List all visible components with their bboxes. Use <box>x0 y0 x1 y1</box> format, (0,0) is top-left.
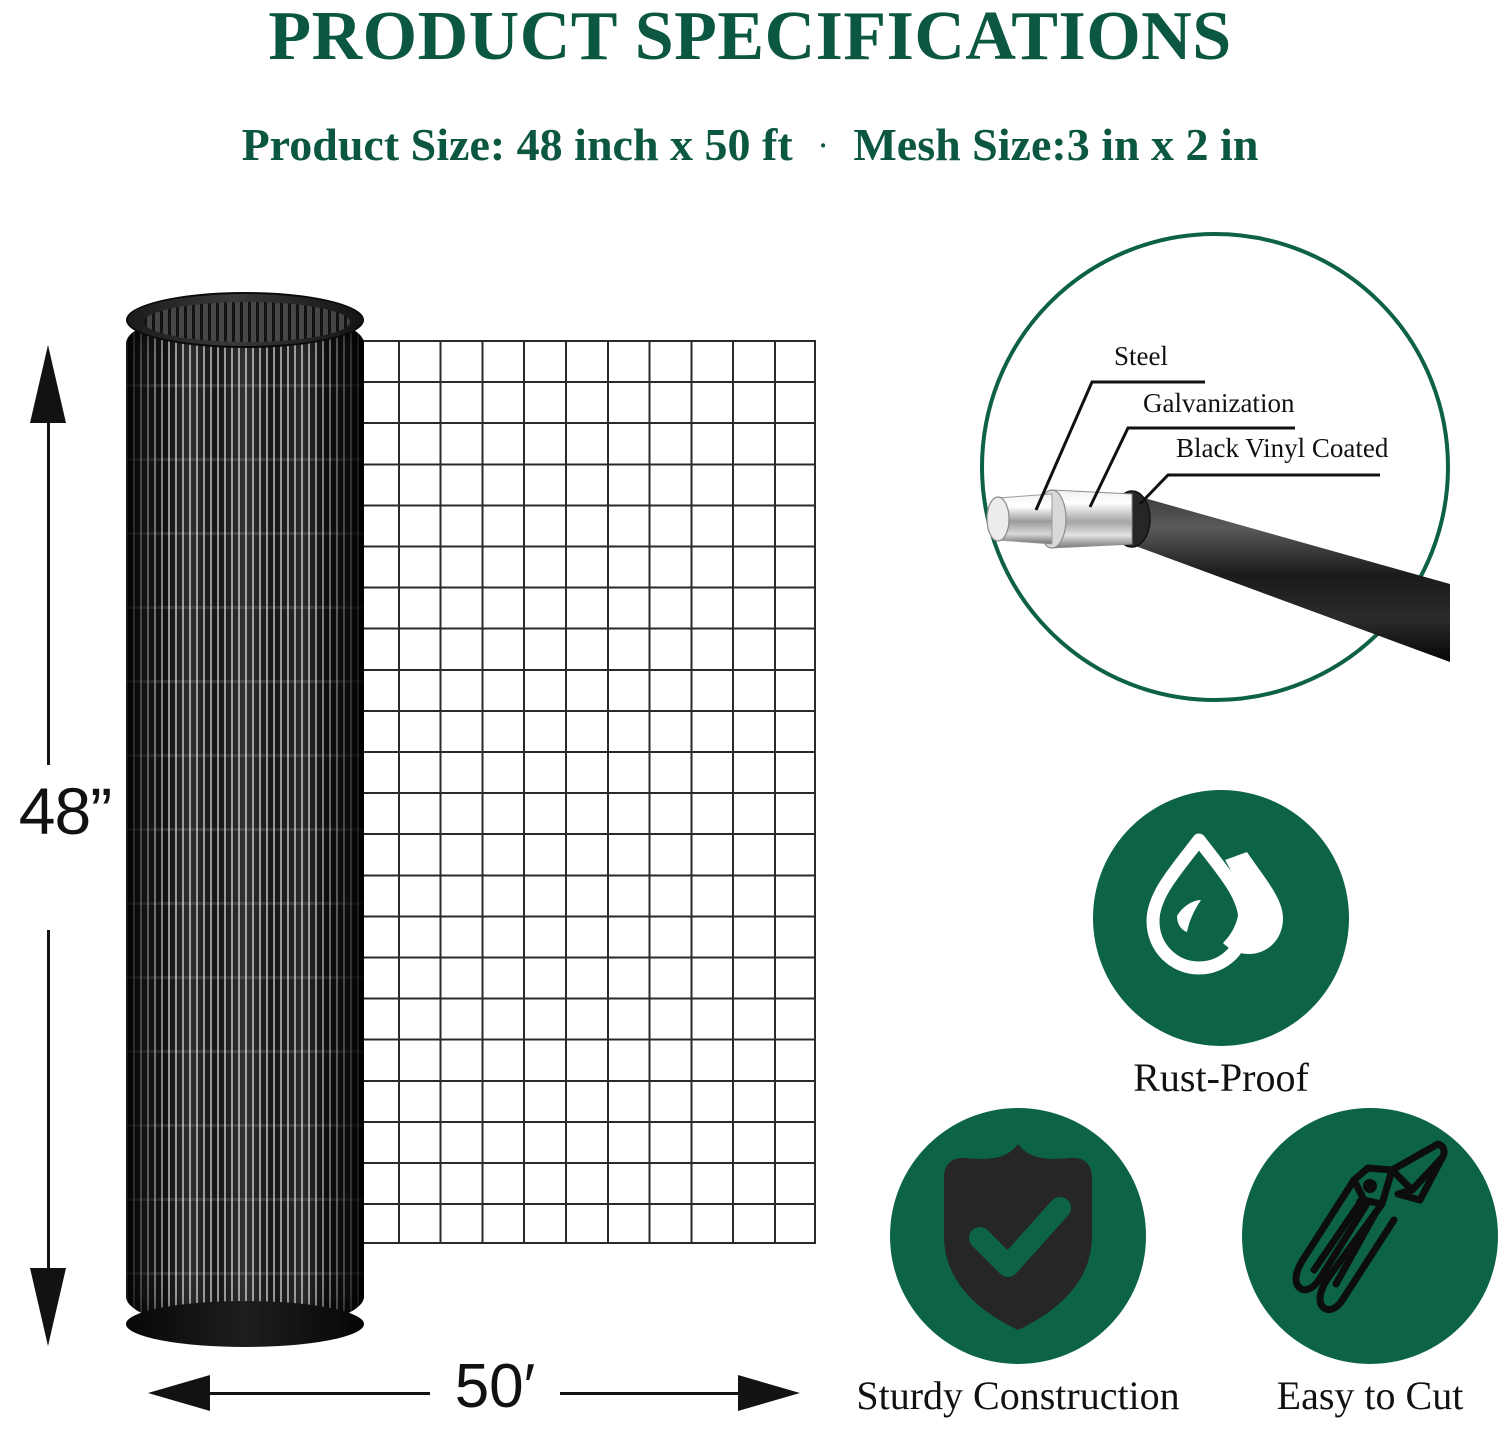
spec-separator-dot: · <box>819 133 828 159</box>
feature-label-easy-to-cut: Easy to Cut <box>1212 1376 1500 1416</box>
roll-top-coil-detail <box>144 302 350 342</box>
product-size-text: Product Size: 48 inch x 50 ft <box>242 119 793 170</box>
feature-easy-to-cut: Easy to Cut <box>1242 1108 1498 1408</box>
feature-label-rust-proof: Rust-Proof <box>1063 1058 1379 1098</box>
steel-layer <box>987 494 1052 544</box>
height-arrow-head-up <box>30 345 66 423</box>
callout-label-black-vinyl-coated: Black Vinyl Coated <box>1176 435 1388 462</box>
pliers-icon <box>1242 1108 1498 1364</box>
width-dimension-label: 50′ <box>430 1356 560 1418</box>
shield-check-icon <box>890 1108 1146 1364</box>
width-arrow-line-right <box>560 1392 740 1395</box>
roll-top-ellipse <box>126 292 364 348</box>
roll-bottom-ellipse <box>126 1301 364 1347</box>
width-arrow-line-left <box>205 1392 430 1395</box>
wire-mesh-panel <box>356 340 816 1244</box>
wire-mesh-roll <box>126 292 364 1347</box>
feature-sturdy-construction: Sturdy Construction <box>890 1108 1146 1408</box>
height-dimension-label: 48” <box>0 778 130 844</box>
feature-rust-proof: Rust-Proof <box>1093 790 1349 1090</box>
width-arrow-head-right <box>738 1375 800 1411</box>
feature-label-sturdy-construction: Sturdy Construction <box>830 1376 1206 1416</box>
height-arrow-head-down <box>30 1268 66 1346</box>
callout-label-steel: Steel <box>1114 343 1168 370</box>
vinyl-layer <box>1114 491 1450 662</box>
water-droplet-icon <box>1093 790 1349 1046</box>
wire-cross-section-illustration <box>980 232 1450 702</box>
wire-construction-callout: Steel Galvanization Black Vinyl Coated <box>980 232 1450 702</box>
callout-label-galvanization: Galvanization <box>1143 390 1294 417</box>
height-arrow-line-lower <box>47 930 50 1275</box>
mesh-size-text: Mesh Size:3 in x 2 in <box>853 119 1258 170</box>
page-title: PRODUCT SPECIFICATIONS <box>0 2 1500 72</box>
product-specification-infographic: PRODUCT SPECIFICATIONS Product Size: 48 … <box>0 0 1500 1434</box>
width-arrow-head-left <box>148 1375 210 1411</box>
height-arrow-line-upper <box>47 420 50 765</box>
roll-coil-bands <box>126 310 364 1330</box>
spec-subtitle: Product Size: 48 inch x 50 ft·Mesh Size:… <box>0 122 1500 168</box>
